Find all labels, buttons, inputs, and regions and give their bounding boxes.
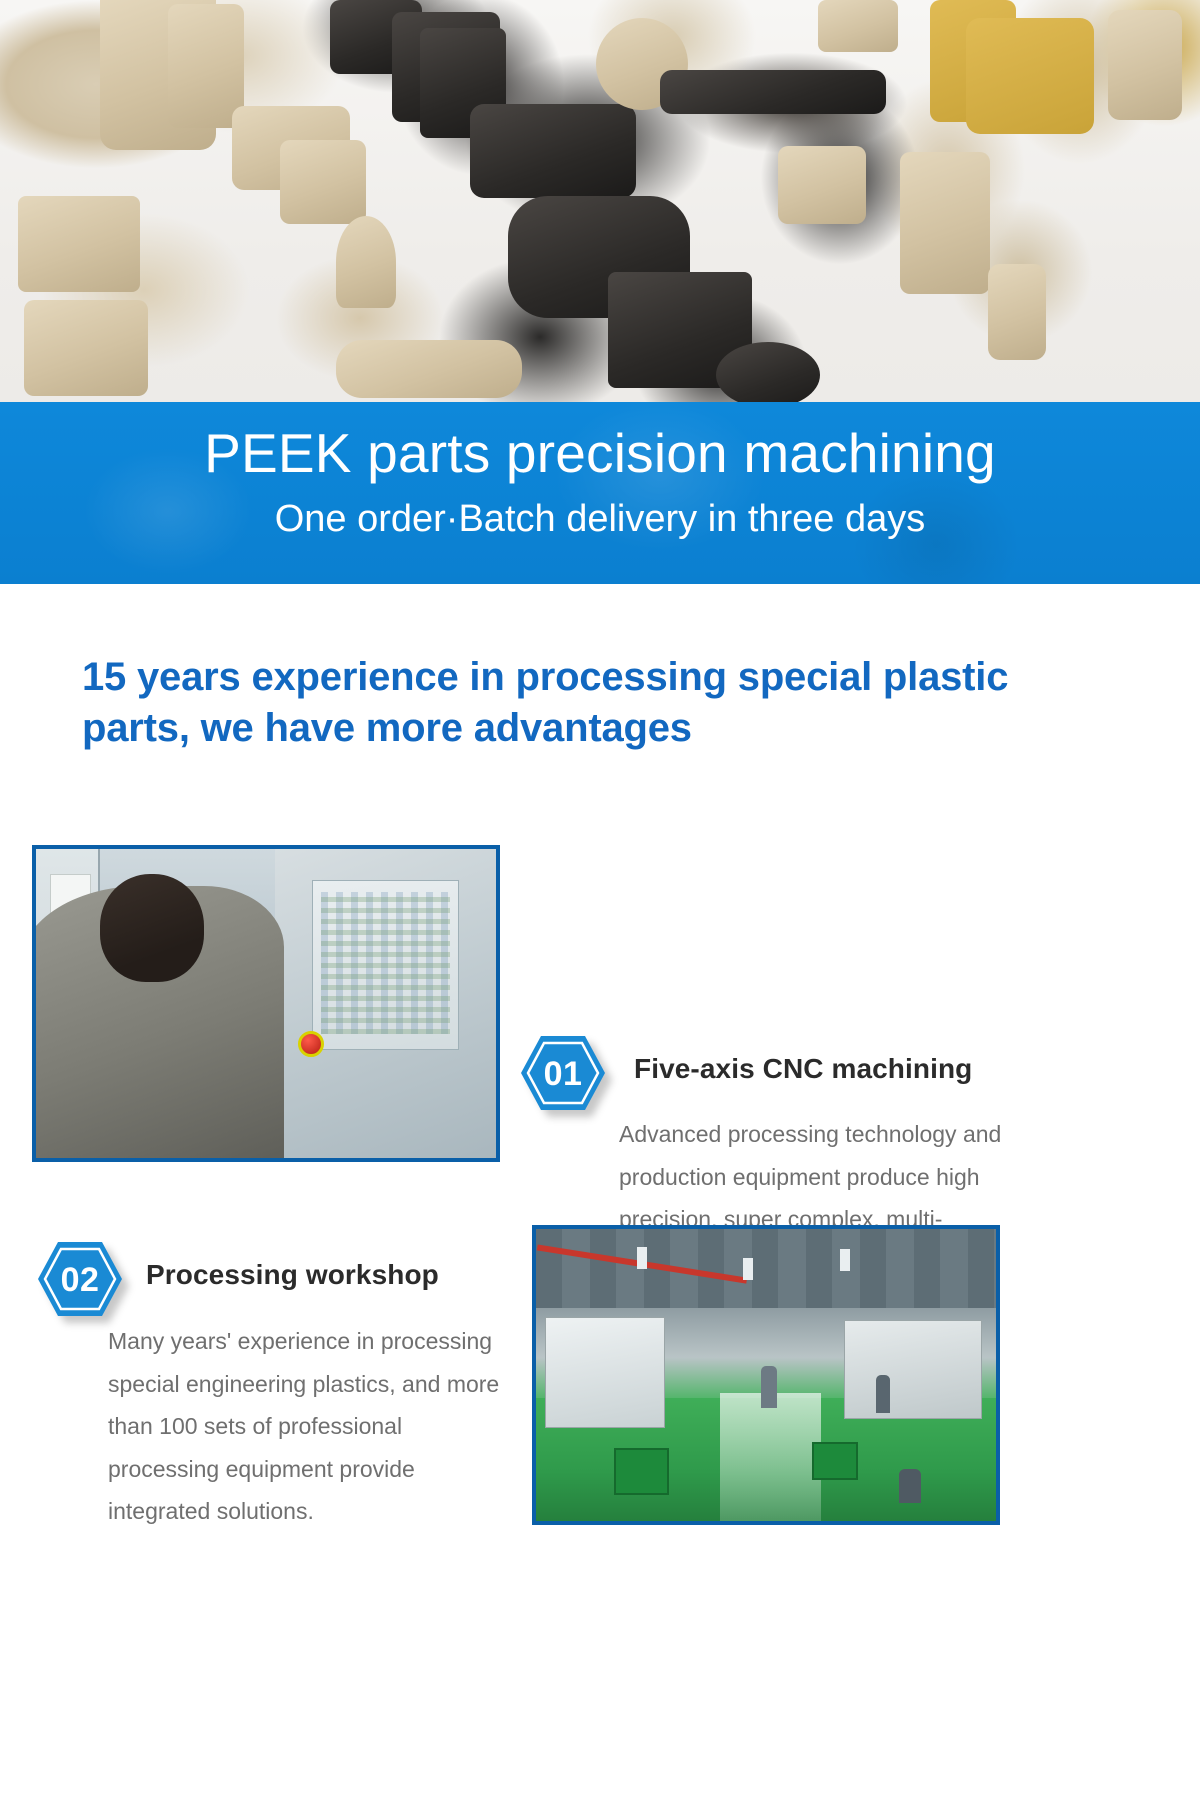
- ceiling-lamp: [840, 1249, 850, 1271]
- workshop-ceiling: [536, 1229, 996, 1308]
- ceiling-lamp: [743, 1258, 753, 1280]
- feature-02-badge: 02: [36, 1240, 124, 1318]
- workshop-trolley: [812, 1442, 858, 1480]
- feature-01-title: Five-axis CNC machining: [634, 1053, 972, 1085]
- part-silhouette: [900, 152, 990, 294]
- part-silhouette: [18, 196, 140, 292]
- feature-02-body: Many years' experience in processing spe…: [108, 1320, 508, 1533]
- banner-title: PEEK parts precision machining: [0, 426, 1200, 481]
- workshop-worker: [761, 1366, 777, 1408]
- part-silhouette: [778, 146, 866, 224]
- part-silhouette: [988, 264, 1046, 360]
- hero-banner: PEEK parts precision machining One order…: [0, 402, 1200, 584]
- feature-02-badge-number: 02: [36, 1241, 124, 1319]
- workshop-worker: [876, 1375, 890, 1413]
- part-silhouette: [168, 4, 244, 128]
- operator-head: [100, 874, 204, 982]
- hero-parts-photo: [0, 0, 1200, 468]
- feature-01-badge: 01: [519, 1034, 607, 1112]
- part-silhouette: [336, 216, 396, 308]
- workshop-machine-right: [844, 1320, 982, 1419]
- product-detail-page: PEEK parts precision machining One order…: [0, 0, 1200, 1796]
- part-silhouette: [966, 18, 1094, 134]
- workshop-machine-left: [545, 1317, 665, 1428]
- section-headline: 15 years experience in processing specia…: [82, 652, 1042, 754]
- feature-01-badge-number: 01: [519, 1035, 607, 1113]
- feature-01-photo: [32, 845, 500, 1162]
- feature-02-title: Processing workshop: [146, 1259, 439, 1291]
- part-silhouette: [470, 104, 636, 198]
- part-silhouette: [660, 70, 886, 114]
- workshop-aisle: [720, 1393, 821, 1521]
- feature-02-photo: [532, 1225, 1000, 1525]
- part-silhouette: [716, 342, 820, 408]
- workshop-worker: [899, 1469, 921, 1503]
- part-silhouette: [818, 0, 898, 52]
- cnc-keypad: [321, 892, 450, 1034]
- part-silhouette: [280, 140, 366, 224]
- banner-subtitle: One order·Batch delivery in three days: [0, 500, 1200, 538]
- part-silhouette: [336, 340, 522, 398]
- ceiling-lamp: [637, 1247, 647, 1269]
- workshop-trolley: [614, 1448, 669, 1495]
- part-silhouette: [1108, 10, 1182, 120]
- part-silhouette: [24, 300, 148, 396]
